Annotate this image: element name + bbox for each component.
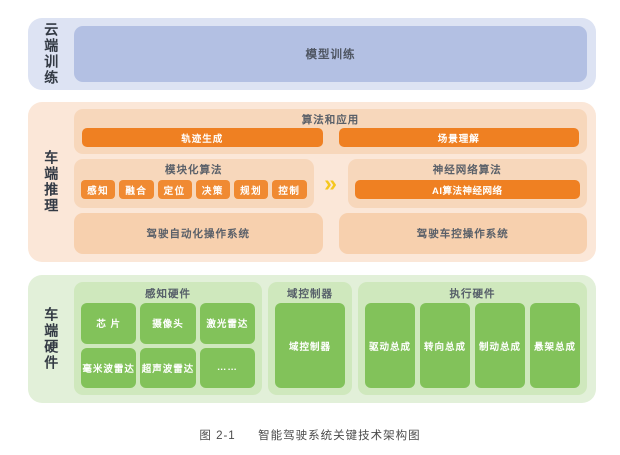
vehicle-hardware-label: 车端硬件 bbox=[28, 275, 74, 403]
algorithm-application-panel: 算法和应用 轨迹生成 场景理解 bbox=[74, 109, 587, 154]
cloud-training-band: 云端训练 模型训练 bbox=[28, 18, 596, 90]
chip-camera[interactable]: 摄像头 bbox=[140, 303, 195, 344]
modular-algorithm-panel: 模块化算法 感知 融合 定位 决策 规划 控制 bbox=[74, 159, 314, 208]
perception-hardware-title: 感知硬件 bbox=[81, 285, 255, 303]
vehicle-inference-body: 算法和应用 轨迹生成 场景理解 模块化算法 感知 融合 定位 决策 规划 控 bbox=[74, 102, 596, 262]
architecture-diagram: 云端训练 模型训练 车端推理 算法和应用 轨迹生成 场景理解 模块化算法 感知 bbox=[0, 0, 620, 455]
chip-ellipsis: …… bbox=[200, 348, 255, 389]
tag-fusion[interactable]: 融合 bbox=[119, 180, 153, 199]
driving-automation-os-box[interactable]: 驾驶自动化操作系统 bbox=[74, 213, 323, 254]
algorithm-application-title: 算法和应用 bbox=[82, 112, 579, 128]
chip-lidar[interactable]: 激光雷达 bbox=[200, 303, 255, 344]
modular-algorithm-title: 模块化算法 bbox=[81, 162, 307, 178]
cloud-training-body: 模型训练 bbox=[74, 18, 596, 90]
chip-millimeter-wave-radar[interactable]: 毫米波雷达 bbox=[81, 348, 136, 389]
chip-braking-assembly[interactable]: 制动总成 bbox=[475, 303, 525, 388]
figure-title: 智能驾驶系统关键技术架构图 bbox=[258, 430, 421, 442]
tag-perception[interactable]: 感知 bbox=[81, 180, 115, 199]
tag-decision[interactable]: 决策 bbox=[196, 180, 230, 199]
tag-localization[interactable]: 定位 bbox=[158, 180, 192, 199]
tag-control[interactable]: 控制 bbox=[272, 180, 306, 199]
actuation-hardware-row: 驱动总成 转向总成 制动总成 悬架总成 bbox=[365, 303, 580, 388]
ai-neural-network-button[interactable]: AI算法神经网络 bbox=[355, 180, 581, 199]
vehicle-control-os-box[interactable]: 驾驶车控操作系统 bbox=[339, 213, 588, 254]
perception-hardware-grid: 芯 片 摄像头 激光雷达 毫米波雷达 超声波雷达 …… bbox=[81, 303, 255, 388]
cloud-training-label: 云端训练 bbox=[28, 18, 74, 90]
domain-controller-row: 域控制器 bbox=[275, 303, 345, 388]
figure-number: 图 2-1 bbox=[199, 430, 235, 442]
algorithm-application-buttons: 轨迹生成 场景理解 bbox=[82, 128, 579, 147]
model-training-box[interactable]: 模型训练 bbox=[74, 26, 587, 82]
vehicle-inference-label: 车端推理 bbox=[28, 102, 74, 262]
vehicle-inference-band: 车端推理 算法和应用 轨迹生成 场景理解 模块化算法 感知 融合 定位 bbox=[28, 102, 596, 262]
chip-steering-assembly[interactable]: 转向总成 bbox=[420, 303, 470, 388]
perception-hardware-group: 感知硬件 芯 片 摄像头 激光雷达 毫米波雷达 超声波雷达 …… bbox=[74, 282, 262, 395]
neural-network-algorithm-panel: 神经网络算法 AI算法神经网络 bbox=[348, 159, 588, 208]
modular-algorithm-tags: 感知 融合 定位 决策 规划 控制 bbox=[81, 178, 307, 202]
domain-controller-group: 域控制器 域控制器 bbox=[268, 282, 352, 395]
figure-caption: 图 2-1 智能驾驶系统关键技术架构图 bbox=[0, 427, 620, 443]
operating-system-row: 驾驶自动化操作系统 驾驶车控操作系统 bbox=[74, 213, 587, 254]
chip-domain-controller[interactable]: 域控制器 bbox=[275, 303, 345, 388]
actuation-hardware-title: 执行硬件 bbox=[365, 285, 580, 303]
chip-soc[interactable]: 芯 片 bbox=[81, 303, 136, 344]
trajectory-generation-button[interactable]: 轨迹生成 bbox=[82, 128, 323, 147]
actuation-hardware-group: 执行硬件 驱动总成 转向总成 制动总成 悬架总成 bbox=[358, 282, 587, 395]
vehicle-hardware-band: 车端硬件 感知硬件 芯 片 摄像头 激光雷达 毫米波雷达 超声波雷达 …… 域控… bbox=[28, 275, 596, 403]
algorithm-columns-row: 模块化算法 感知 融合 定位 决策 规划 控制 » 神经网络算法 AI算法神经网… bbox=[74, 159, 587, 208]
domain-controller-title: 域控制器 bbox=[275, 285, 345, 303]
double-chevron-right-icon: » bbox=[314, 159, 348, 208]
tag-planning[interactable]: 规划 bbox=[234, 180, 268, 199]
scene-understanding-button[interactable]: 场景理解 bbox=[339, 128, 580, 147]
chip-suspension-assembly[interactable]: 悬架总成 bbox=[530, 303, 580, 388]
vehicle-hardware-body: 感知硬件 芯 片 摄像头 激光雷达 毫米波雷达 超声波雷达 …… 域控制器 域控… bbox=[74, 275, 596, 403]
chip-ultrasonic-radar[interactable]: 超声波雷达 bbox=[140, 348, 195, 389]
neural-network-algorithm-title: 神经网络算法 bbox=[355, 162, 581, 178]
chip-drive-assembly[interactable]: 驱动总成 bbox=[365, 303, 415, 388]
